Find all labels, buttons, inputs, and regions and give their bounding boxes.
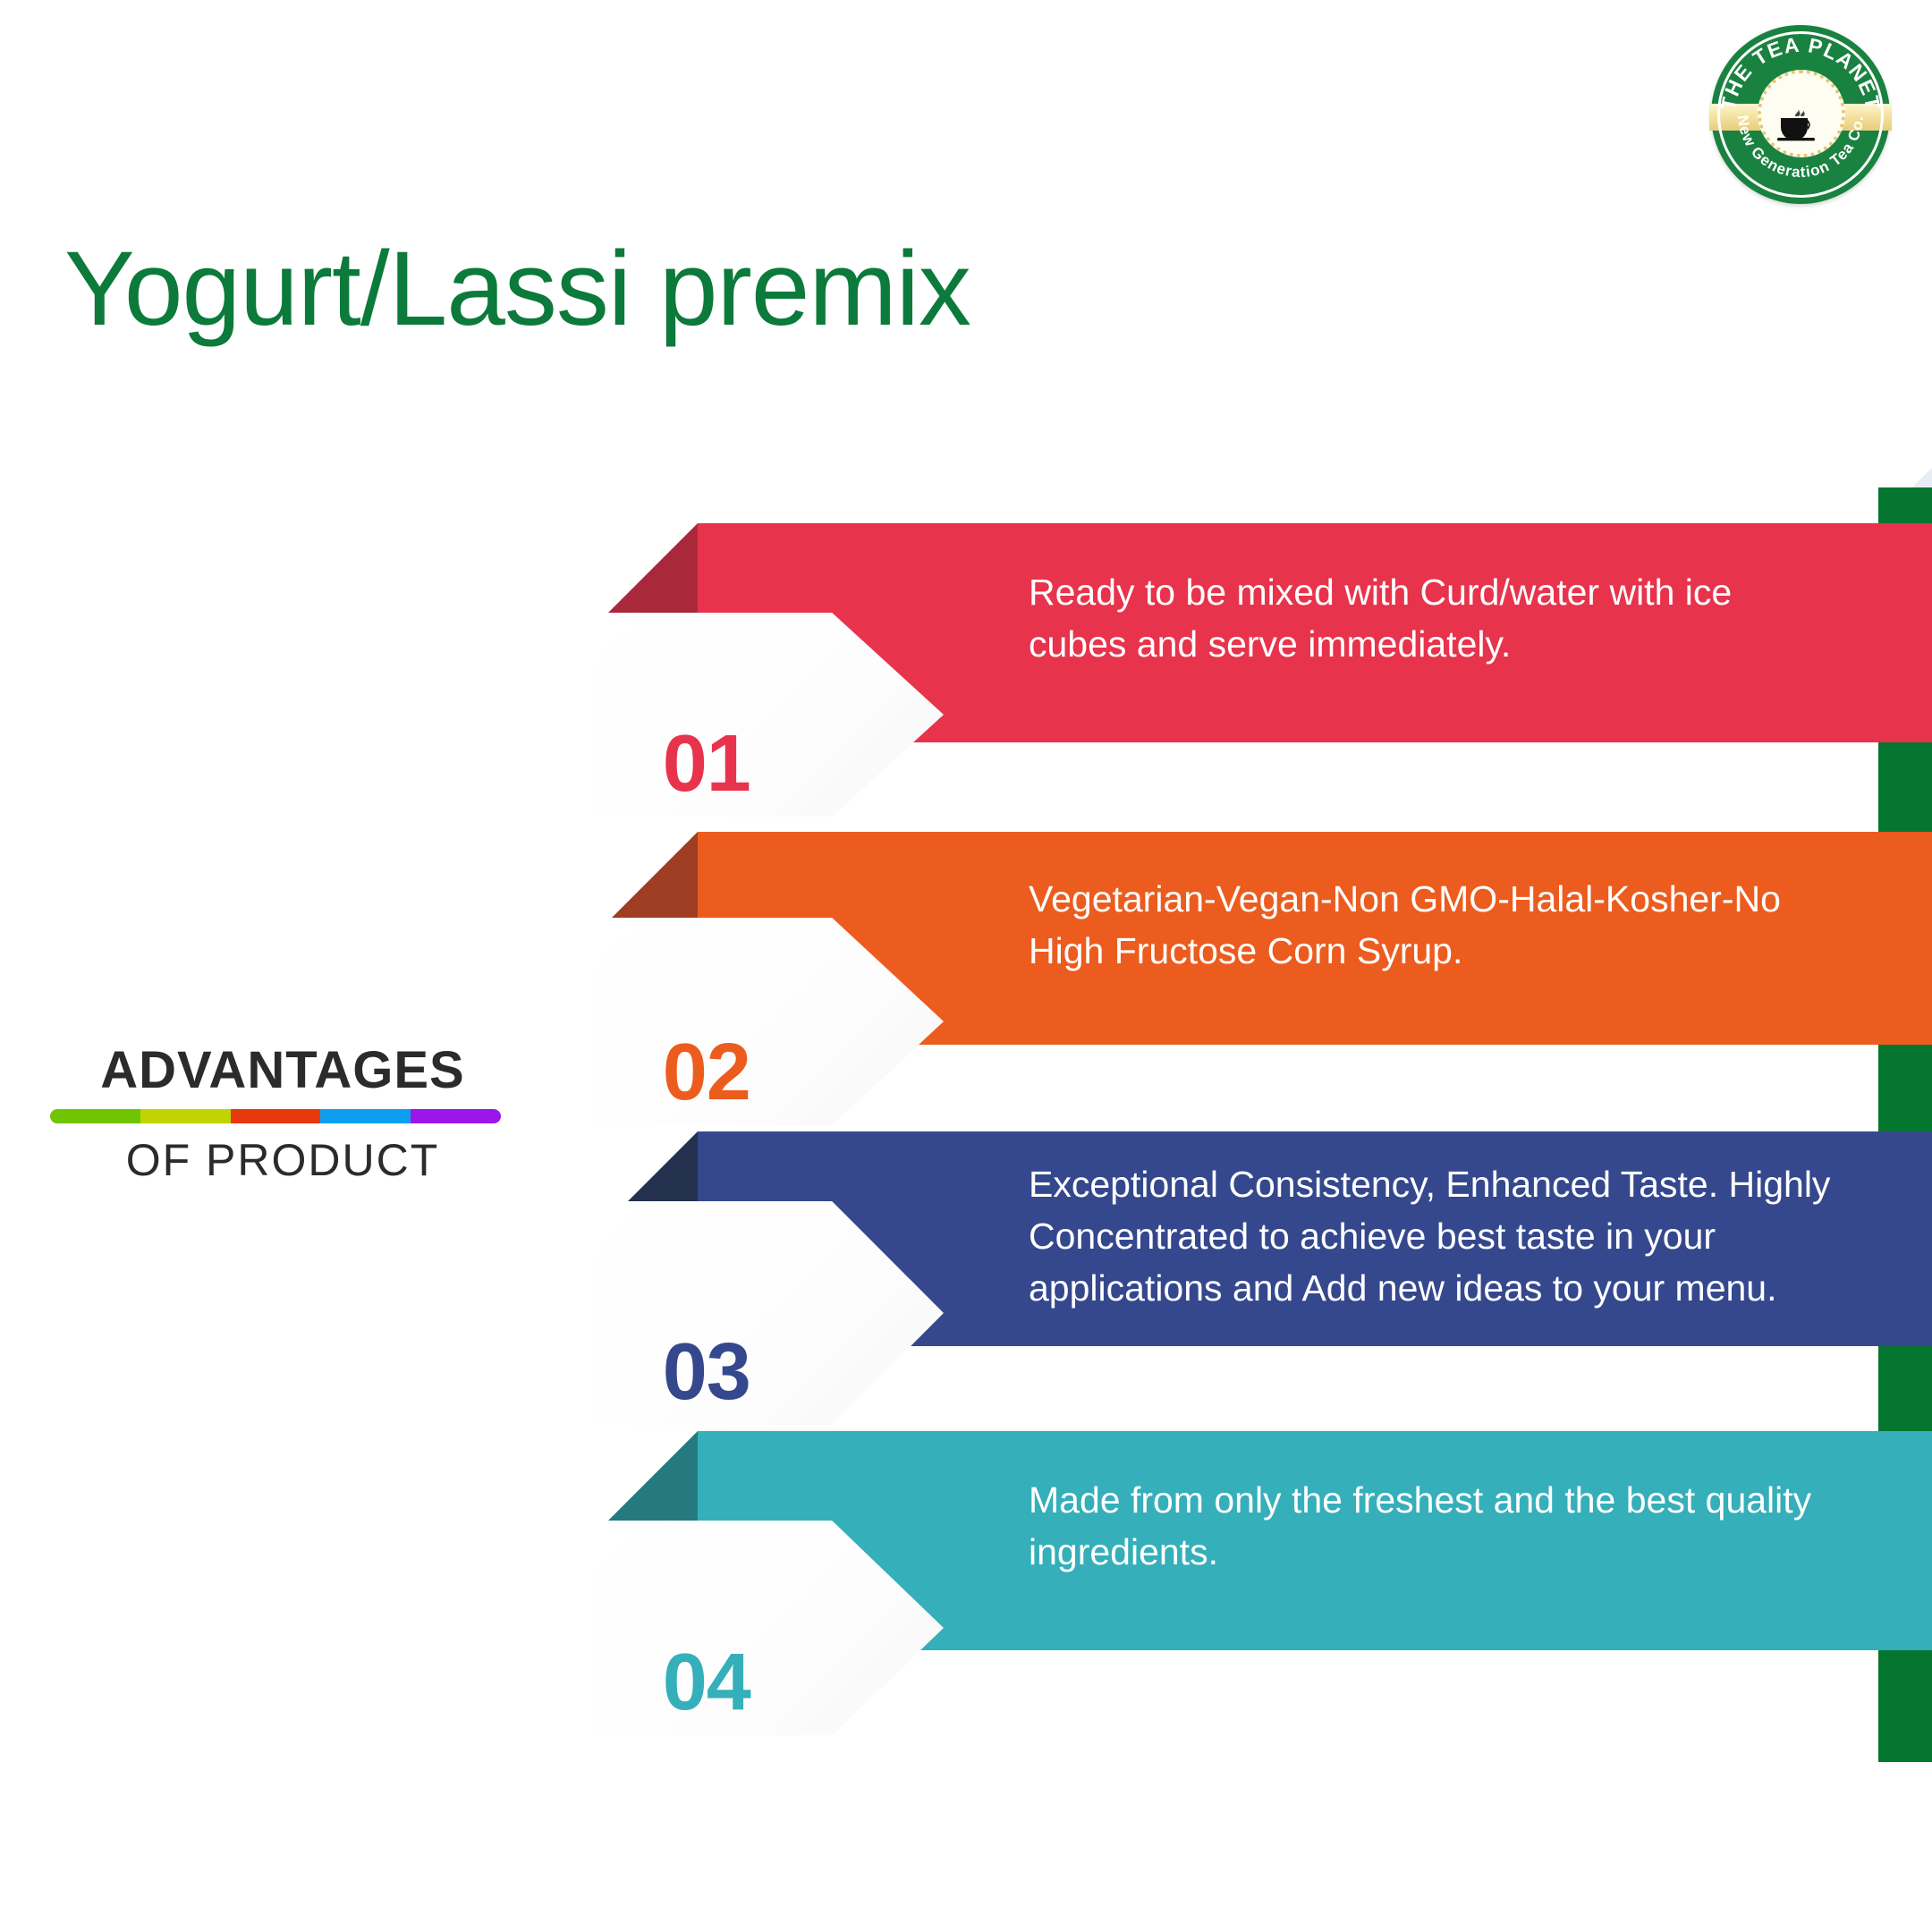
- bar-segment-1: [50, 1109, 140, 1123]
- number-label-2: 02: [595, 1032, 818, 1113]
- advantage-row-1: 01 Ready to be mixed with Curd/water wit…: [0, 523, 1932, 742]
- number-label-1: 01: [595, 724, 818, 804]
- number-label-4: 04: [595, 1642, 818, 1723]
- advantage-row-3: 03 Exceptional Consistency, Enhanced Tas…: [0, 1131, 1932, 1346]
- tea-cup-icon: [1775, 107, 1826, 143]
- advantage-row-2: 02 Vegetarian-Vegan-Non GMO-Halal-Kosher…: [0, 832, 1932, 1045]
- advantage-row-4: 04 Made from only the freshest and the b…: [0, 1431, 1932, 1650]
- advantages-heading: ADVANTAGES: [50, 1045, 515, 1097]
- bar-segment-3: [231, 1109, 321, 1123]
- banner-text-1: Ready to be mixed with Curd/water with i…: [1029, 566, 1834, 670]
- bar-segment-4: [320, 1109, 411, 1123]
- advantages-color-bar: [50, 1109, 501, 1123]
- banner-fold-2: [608, 832, 698, 921]
- bar-segment-5: [411, 1109, 501, 1123]
- bar-segment-2: [140, 1109, 231, 1123]
- banner-text-4: Made from only the freshest and the best…: [1029, 1474, 1834, 1578]
- banner-text-2: Vegetarian-Vegan-Non GMO-Halal-Kosher-No…: [1029, 873, 1834, 977]
- banner-text-3: Exceptional Consistency, Enhanced Taste.…: [1029, 1158, 1834, 1315]
- the-tea-planet-logo: THE TEA PLANET New Generation Tea Co.: [1711, 25, 1890, 204]
- number-label-3: 03: [595, 1332, 818, 1412]
- banner-fold-4: [608, 1431, 698, 1521]
- page-title: Yogurt/Lassi premix: [64, 234, 970, 345]
- banner-fold-1: [608, 523, 698, 613]
